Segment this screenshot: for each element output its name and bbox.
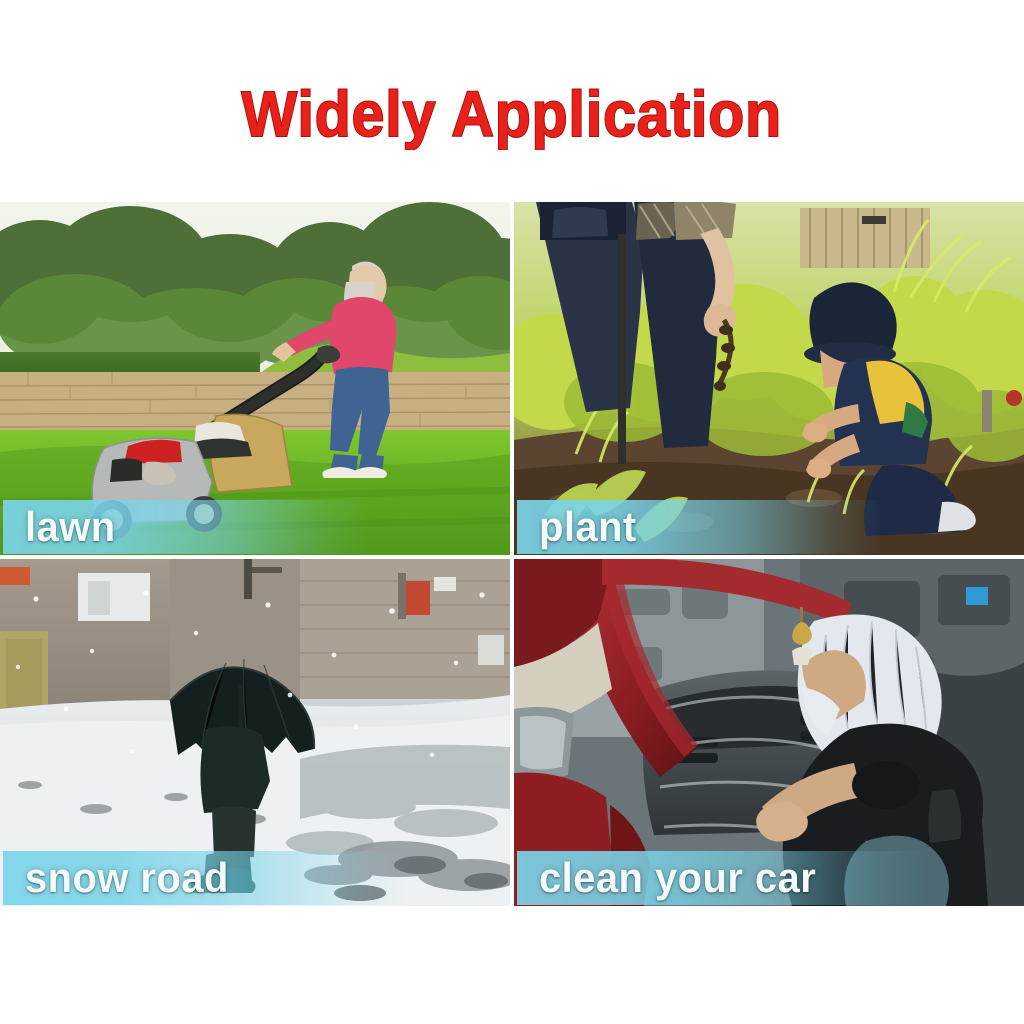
- plant-illustration: [514, 202, 1024, 555]
- panel-lawn[interactable]: lawn: [0, 202, 510, 555]
- page-title: Widely Application: [242, 77, 783, 151]
- snow-road-illustration: [0, 559, 510, 906]
- lawn-illustration: [0, 202, 510, 555]
- panel-snow-road[interactable]: snow road: [0, 559, 510, 906]
- title-banner: Widely Application: [0, 0, 1024, 202]
- clean-car-illustration: [514, 559, 1024, 906]
- panel-plant[interactable]: plant: [514, 202, 1024, 555]
- panel-clean-your-car[interactable]: clean your car: [514, 559, 1024, 906]
- poster-root: Widely Application: [0, 0, 1024, 1024]
- application-collage: lawn: [0, 202, 1024, 906]
